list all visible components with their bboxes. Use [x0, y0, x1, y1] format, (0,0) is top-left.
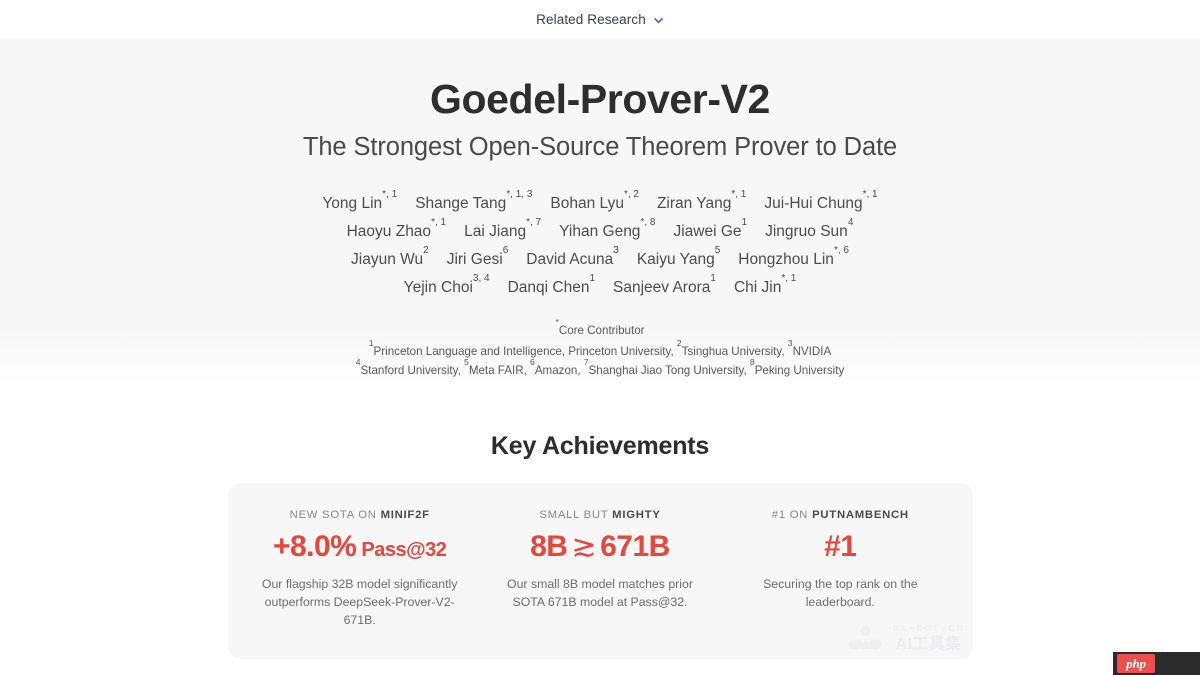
- author-affiliation-marker: *, 1: [382, 189, 397, 200]
- affiliation-name: Princeton Language and Intelligence, Pri…: [374, 345, 677, 358]
- author-affiliation-marker: 3: [613, 245, 619, 256]
- chevron-down-icon[interactable]: [653, 15, 664, 26]
- author-affiliation-marker: 4: [848, 217, 854, 228]
- achievement-value-relation-symbol: ≳: [567, 530, 600, 563]
- achievement-label-benchmark: PUTNAMBENCH: [812, 509, 909, 521]
- top-navigation-bar: Related Research: [0, 0, 1200, 39]
- page-title: Goedel-Prover-V2: [0, 77, 1200, 123]
- author-line: Haoyu Zhao*, 1Lai Jiang*, 7Yihan Geng*, …: [0, 218, 1200, 246]
- achievement-label-prefix: NEW SOTA ON: [290, 509, 381, 521]
- author-affiliation-marker: *, 1, 3: [506, 189, 532, 200]
- core-contributor-marker: *: [555, 317, 558, 327]
- achievement-value: 8B≳671B: [490, 531, 710, 563]
- author-affiliation-marker: 1: [742, 217, 748, 228]
- affiliation-name: Tsinghua University,: [682, 345, 788, 358]
- watermark-logo-icon: [848, 625, 884, 651]
- php-badge-label: php: [1126, 656, 1146, 672]
- achievement-label-benchmark: MINIF2F: [381, 509, 430, 521]
- author-affiliation-marker: *, 1: [781, 273, 796, 284]
- achievement-value: #1: [730, 531, 950, 563]
- achievement-label-benchmark: MIGHTY: [612, 509, 660, 521]
- affiliation-name: Stanford University,: [361, 364, 465, 377]
- affiliation-name: Peking University: [755, 364, 845, 377]
- affiliation-index: 1: [369, 338, 374, 348]
- achievement-description: Securing the top rank on the leaderboard…: [733, 575, 948, 611]
- bottom-overlay-bar: php: [1113, 652, 1200, 675]
- author-name: Jui-Hui Chung*, 1: [764, 190, 877, 218]
- page-subtitle: The Strongest Open-Source Theorem Prover…: [0, 132, 1200, 163]
- author-name: Lai Jiang*, 7: [464, 218, 541, 246]
- author-list: Yong Lin*, 1Shange Tang*, 1, 3Bohan Lyu*…: [0, 190, 1200, 302]
- author-affiliation-marker: 1: [589, 273, 595, 284]
- author-name: Yong Lin*, 1: [322, 190, 397, 218]
- affiliation-index: 2: [677, 338, 682, 348]
- author-name: Jiri Gesi6: [447, 246, 509, 274]
- site-watermark: ai-bot.cn AI工具集: [848, 623, 964, 653]
- php-logo-badge[interactable]: php: [1117, 654, 1155, 673]
- author-name: Jiayun Wu2: [351, 246, 429, 274]
- author-name: Sanjeev Arora1: [613, 274, 716, 302]
- achievement-card: #1 ON PUTNAMBENCH #1 Securing the top ra…: [720, 509, 960, 611]
- achievement-description: Our small 8B model matches prior SOTA 67…: [492, 575, 707, 611]
- achievement-label: NEW SOTA ON MINIF2F: [250, 509, 470, 521]
- author-name: Chi Jin*, 1: [734, 274, 796, 302]
- author-line: Jiayun Wu2Jiri Gesi6David Acuna3Kaiyu Ya…: [0, 246, 1200, 274]
- affiliations-block: *Core Contributor 1Princeton Language an…: [0, 321, 1200, 380]
- achievement-label-prefix: SMALL BUT: [539, 509, 612, 521]
- hero-section: Goedel-Prover-V2 The Strongest Open-Sour…: [0, 39, 1200, 390]
- author-line: Yejin Choi3, 4Danqi Chen1Sanjeev Arora1C…: [0, 274, 1200, 302]
- author-affiliation-marker: *, 6: [834, 245, 849, 256]
- watermark-url: ai-bot.cn: [892, 623, 964, 636]
- author-affiliation-marker: *, 1: [731, 189, 746, 200]
- section-heading: Key Achievements: [0, 432, 1200, 461]
- author-affiliation-marker: *, 1: [863, 189, 878, 200]
- affiliation-name: Amazon,: [535, 364, 584, 377]
- achievement-label: SMALL BUT MIGHTY: [490, 509, 710, 521]
- author-name: Haoyu Zhao*, 1: [347, 218, 446, 246]
- affiliation-index: 5: [464, 357, 469, 367]
- affiliation-index: 4: [356, 357, 361, 367]
- key-achievements-section: Key Achievements NEW SOTA ON MINIF2F +8.…: [0, 390, 1200, 659]
- author-affiliation-marker: *, 7: [526, 217, 541, 228]
- author-line: Yong Lin*, 1Shange Tang*, 1, 3Bohan Lyu*…: [0, 190, 1200, 218]
- achievement-value-suffix: 671B: [600, 530, 670, 563]
- achievement-value-main: +8.0%: [273, 530, 356, 563]
- author-name: Ziran Yang*, 1: [657, 190, 746, 218]
- core-contributor-note: *Core Contributor: [0, 321, 1200, 340]
- affiliation-line: 4Stanford University, 5Meta FAIR, 6Amazo…: [0, 361, 1200, 380]
- author-affiliation-marker: 5: [715, 245, 721, 256]
- nav-item-related-research[interactable]: Related Research: [530, 8, 670, 31]
- author-affiliation-marker: 2: [423, 245, 429, 256]
- author-name: Jingruo Sun4: [765, 218, 853, 246]
- author-name: Bohan Lyu*, 2: [550, 190, 639, 218]
- author-affiliation-marker: *, 1: [431, 217, 446, 228]
- affiliation-index: 8: [750, 357, 755, 367]
- nav-item-label: Related Research: [536, 12, 646, 27]
- achievement-value-main: 8B: [530, 530, 567, 563]
- achievement-card: SMALL BUT MIGHTY 8B≳671B Our small 8B mo…: [480, 509, 720, 611]
- achievement-label-prefix: #1 ON: [772, 509, 812, 521]
- achievement-value-suffix: Pass@32: [356, 539, 446, 561]
- author-affiliation-marker: *, 2: [624, 189, 639, 200]
- author-name: David Acuna3: [526, 246, 619, 274]
- watermark-name: AI工具集: [892, 636, 964, 653]
- author-name: Kaiyu Yang5: [637, 246, 720, 274]
- author-affiliation-marker: *, 8: [640, 217, 655, 228]
- affiliation-index: 6: [530, 357, 535, 367]
- affiliation-index: 7: [584, 357, 589, 367]
- achievement-label: #1 ON PUTNAMBENCH: [730, 509, 950, 521]
- achievements-panel: NEW SOTA ON MINIF2F +8.0% Pass@32 Our fl…: [228, 483, 973, 659]
- affiliation-index: 3: [788, 338, 793, 348]
- affiliation-name: Meta FAIR,: [469, 364, 530, 377]
- achievement-description: Our flagship 32B model significantly out…: [252, 575, 467, 629]
- affiliation-name: Shanghai Jiao Tong University,: [589, 364, 750, 377]
- author-affiliation-marker: 6: [503, 245, 509, 256]
- author-name: Yejin Choi3, 4: [404, 274, 490, 302]
- author-name: Hongzhou Lin*, 6: [738, 246, 849, 274]
- affiliation-line: 1Princeton Language and Intelligence, Pr…: [0, 342, 1200, 361]
- author-name: Jiawei Ge1: [673, 218, 747, 246]
- author-name: Shange Tang*, 1, 3: [415, 190, 532, 218]
- author-name: Yihan Geng*, 8: [559, 218, 655, 246]
- achievement-value-main: #1: [824, 530, 856, 563]
- author-name: Danqi Chen1: [508, 274, 595, 302]
- achievement-card: NEW SOTA ON MINIF2F +8.0% Pass@32 Our fl…: [240, 509, 480, 629]
- author-affiliation-marker: 1: [710, 273, 716, 284]
- achievement-value: +8.0% Pass@32: [250, 531, 470, 563]
- author-affiliation-marker: 3, 4: [473, 273, 490, 284]
- affiliation-name: NVIDIA: [793, 345, 832, 358]
